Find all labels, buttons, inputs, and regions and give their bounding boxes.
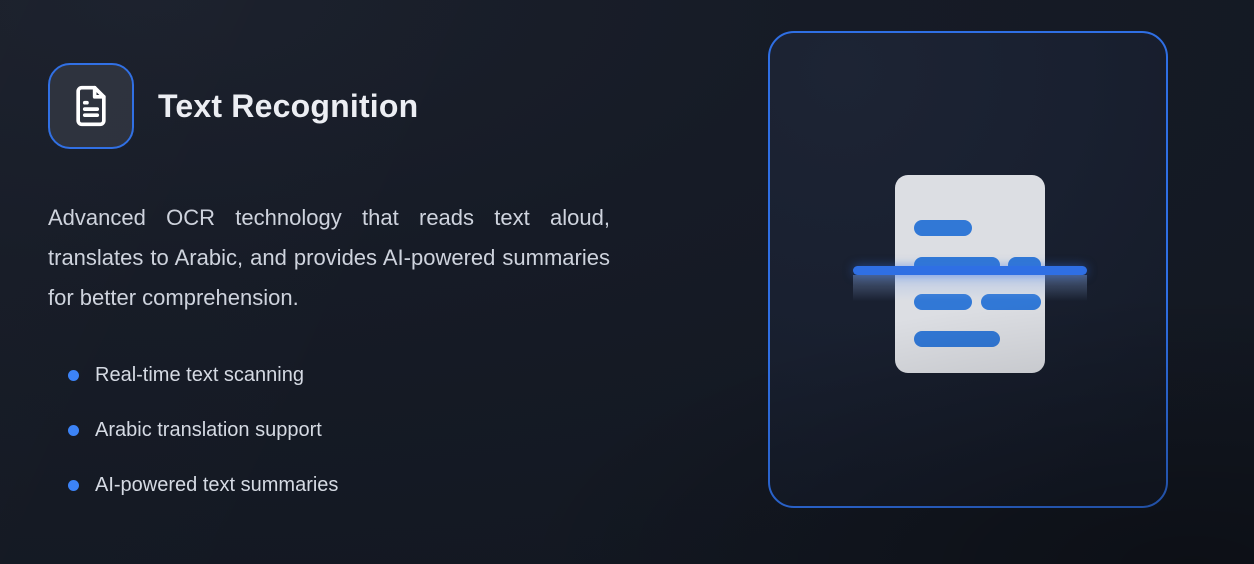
document-text-line (981, 294, 1041, 310)
feature-showcase-panel: Text Recognition Advanced OCR technology… (0, 0, 1254, 564)
feature-description: Advanced OCR technology that reads text … (48, 198, 610, 318)
bullet-label: AI-powered text summaries (95, 474, 338, 497)
feature-text-column: Text Recognition Advanced OCR technology… (48, 56, 648, 513)
list-item: Real-time text scanning (48, 348, 648, 403)
document-text-icon (48, 63, 134, 149)
page-title: Text Recognition (158, 88, 418, 125)
feature-description-text: Advanced OCR technology that reads text … (48, 205, 610, 310)
feature-header: Text Recognition (48, 56, 648, 156)
list-item: Arabic translation support (48, 403, 648, 458)
ocr-scanning-illustration-card (768, 31, 1168, 508)
bullet-dot-icon (68, 370, 79, 381)
bullet-label: Arabic translation support (95, 419, 322, 442)
bullet-dot-icon (68, 480, 79, 491)
scan-beam-line (853, 266, 1087, 275)
document-text-line (914, 220, 972, 236)
scanned-document-graphic (895, 175, 1045, 373)
list-item: AI-powered text summaries (48, 458, 648, 513)
document-text-line (914, 294, 972, 310)
feature-bullet-list: Real-time text scanning Arabic translati… (48, 348, 648, 513)
document-text-line (914, 331, 1000, 347)
bullet-dot-icon (68, 425, 79, 436)
bullet-label: Real-time text scanning (95, 364, 304, 387)
